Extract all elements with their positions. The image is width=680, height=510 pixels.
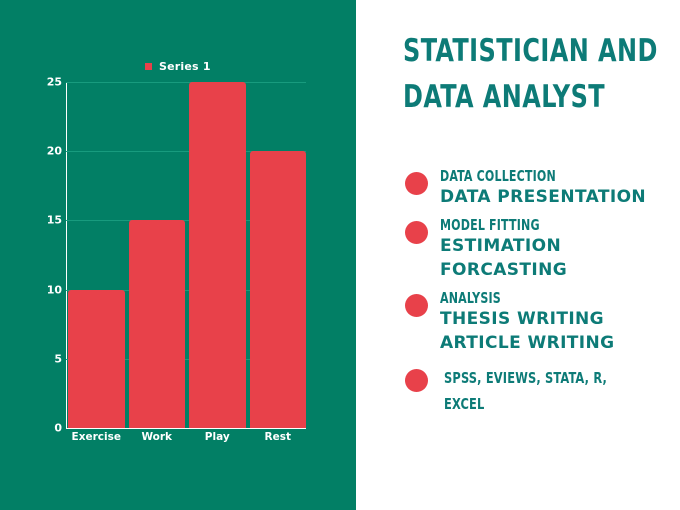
bullet-line: DATA COLLECTION [440, 168, 637, 185]
y-axis-tick-labels: 0510152025 [18, 82, 62, 434]
bullet-group: DATA COLLECTIONDATA PRESENTATION [356, 168, 680, 209]
slide-root: Series 1 0510152025 ExerciseWorkPlayRest… [0, 0, 680, 510]
y-axis-tick-label: 25 [22, 76, 62, 89]
bullet-group: SPSS, EVIEWS, STATA, R,EXCEL [356, 365, 680, 417]
legend-label-series-1: Series 1 [159, 60, 211, 73]
page-title: STATISTICIAN AND DATA ANALYST [403, 28, 635, 120]
bar [68, 290, 125, 428]
bullet-line: SPSS, EVIEWS, STATA, R, [444, 365, 638, 391]
y-axis-tick-label: 0 [22, 422, 62, 435]
bullet-dot-icon [405, 172, 428, 195]
page-title-line-1: STATISTICIAN AND [403, 28, 635, 74]
x-axis-tick-label: Exercise [66, 431, 127, 443]
bullet-text-block: MODEL FITTINGESTIMATIONFORCASTING [440, 217, 680, 282]
bullet-line: ARTICLE WRITING [440, 331, 680, 355]
legend-swatch-series-1 [145, 63, 152, 70]
bar [129, 220, 186, 428]
x-axis-tick-label: Rest [248, 431, 309, 443]
y-axis-tick-label: 5 [22, 352, 62, 365]
content-panel: STATISTICIAN AND DATA ANALYST DATA COLLE… [356, 0, 680, 510]
x-axis-category-labels: ExerciseWorkPlayRest [66, 431, 308, 451]
bullet-line: MODEL FITTING [440, 217, 637, 234]
x-axis-line [66, 428, 306, 429]
bullet-line: THESIS WRITING [440, 307, 680, 331]
bar [250, 151, 307, 428]
bullet-text-block: SPSS, EVIEWS, STATA, R,EXCEL [444, 365, 680, 417]
y-axis-tick-label: 15 [22, 214, 62, 227]
bullet-dot-icon [405, 221, 428, 244]
bar-series-series-1 [66, 82, 308, 428]
bullet-group: MODEL FITTINGESTIMATIONFORCASTING [356, 217, 680, 282]
x-axis-tick-label: Work [127, 431, 188, 443]
y-axis-tick-label: 20 [22, 145, 62, 158]
page-title-line-2: DATA ANALYST [403, 74, 635, 120]
bullet-dot-icon [405, 369, 428, 392]
bullet-group: ANALYSISTHESIS WRITINGARTICLE WRITING [356, 290, 680, 355]
bullet-line: ANALYSIS [440, 290, 637, 307]
bullet-text-block: DATA COLLECTIONDATA PRESENTATION [440, 168, 680, 209]
bullet-text-block: ANALYSISTHESIS WRITINGARTICLE WRITING [440, 290, 680, 355]
bullet-line: DATA PRESENTATION [440, 185, 680, 209]
service-bullet-list: DATA COLLECTIONDATA PRESENTATIONMODEL FI… [356, 168, 680, 417]
bar [189, 82, 246, 428]
chart-legend: Series 1 [145, 60, 211, 73]
chart-panel: Series 1 0510152025 ExerciseWorkPlayRest [0, 0, 356, 510]
bullet-line: FORCASTING [440, 258, 680, 282]
bullet-line: EXCEL [444, 391, 638, 417]
bullet-line: ESTIMATION [440, 234, 680, 258]
x-axis-tick-label: Play [187, 431, 248, 443]
bullet-dot-icon [405, 294, 428, 317]
y-axis-tick-label: 10 [22, 283, 62, 296]
